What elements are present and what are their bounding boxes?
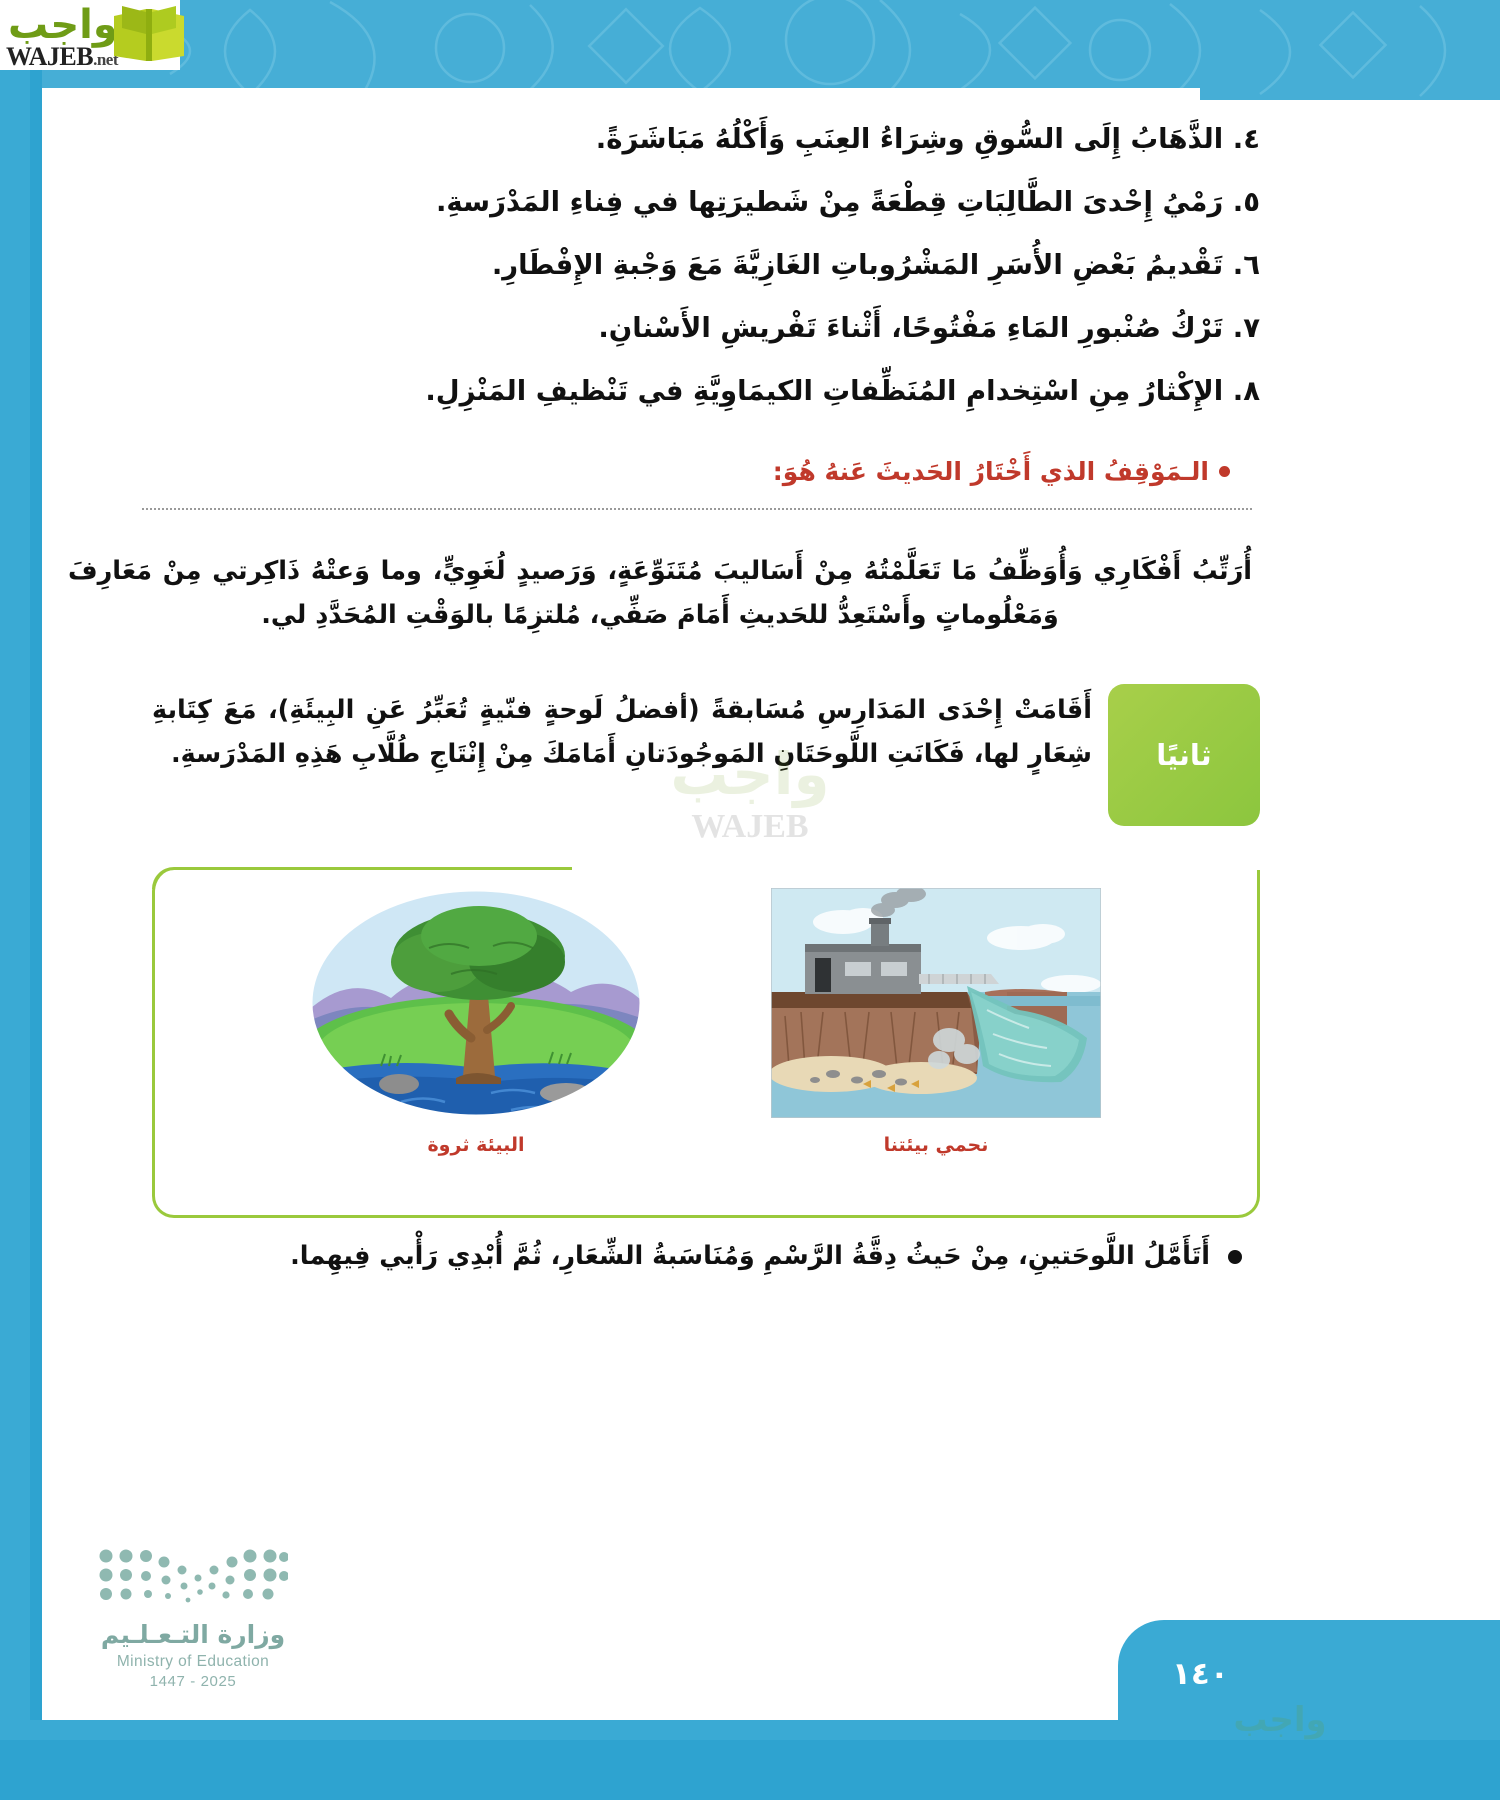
top-banner <box>0 0 1500 100</box>
banner-pattern-icon <box>0 0 1500 100</box>
list-item: ٥. رَمْيُ إِحْدىَ الطَّالِبَاتِ قِطْعَةً… <box>60 183 1260 222</box>
numbered-statement-list: ٤. الذَّهَابُ إِلَى السُّوقِ وشِرَاءُ ال… <box>60 120 1260 411</box>
list-item: ٨. الإِكْثارُ مِنِ اسْتِخدامِ المُنَظِّف… <box>60 372 1260 411</box>
clean-environment-illustration <box>311 888 641 1118</box>
illustration-card-clean[interactable]: البيئة ثروة <box>311 888 641 1156</box>
ministry-year: 2025 - 1447 <box>78 1673 308 1690</box>
page-number: ١٤٠ <box>1172 1656 1229 1692</box>
watermark-bottom-arabic: واجب <box>1180 1700 1380 1740</box>
red-heading-row: الـمَوْقِفُ الذي أَخْتَارُ الحَديثَ عَنه… <box>60 457 1260 486</box>
list-item: ٤. الذَّهَابُ إِلَى السُّوقِ وشِرَاءُ ال… <box>60 120 1260 159</box>
left-edge-strip-inner <box>30 0 42 1800</box>
illustrations-panel: البيئة ثروة <box>152 870 1260 1218</box>
panel-top-border <box>152 867 572 889</box>
bottom-bullet-text: أَتَأَمَّلُ اللَّوحَتينِ، مِنْ حَيثُ دِق… <box>290 1236 1210 1277</box>
red-heading-text: الـمَوْقِفُ الذي أَخْتَارُ الحَديثَ عَنه… <box>773 457 1209 486</box>
open-book-icon <box>110 4 188 66</box>
black-bullet-icon <box>1228 1250 1242 1264</box>
textbook-page: واجب WAJEB.net واجب WAJEB ٤. الذَّهَابُ … <box>0 0 1500 1800</box>
ministry-logo: وزارة التـعـلـيم Ministry of Education 2… <box>78 1548 308 1690</box>
activity-block: ثانيًا أَقَامَتْ إِحْدَى المَدَارِسِ مُس… <box>60 684 1260 860</box>
page-watermark-bottom: واجب <box>1180 1700 1380 1780</box>
illustrations-row: البيئة ثروة <box>155 888 1257 1156</box>
illustration-caption-polluted: نحمي بيئتنا <box>771 1134 1101 1156</box>
answer-dotted-line[interactable] <box>142 508 1252 510</box>
site-logo-english-text: WAJEB <box>6 42 93 71</box>
illustration-card-polluted[interactable]: نحمي بيئتنا <box>771 888 1101 1156</box>
page-content: ٤. الذَّهَابُ إِلَى السُّوقِ وشِرَاءُ ال… <box>60 120 1260 1277</box>
ministry-name-arabic: وزارة التـعـلـيم <box>78 1620 308 1649</box>
list-item: ٦. تَقْديمُ بَعْضِ الأُسَرِ المَشْرُوبات… <box>60 246 1260 285</box>
site-logo-english: WAJEB.net <box>6 42 118 72</box>
ministry-dots-icon <box>98 1548 288 1606</box>
illustration-caption-clean: البيئة ثروة <box>311 1134 641 1156</box>
activity-order-tag: ثانيًا <box>1108 684 1260 826</box>
polluted-environment-illustration <box>771 888 1101 1118</box>
activity-order-label: ثانيًا <box>1156 738 1211 772</box>
site-logo[interactable]: واجب WAJEB.net <box>0 0 180 70</box>
ministry-name-english: Ministry of Education <box>78 1653 308 1671</box>
bottom-bullet-row: أَتَأَمَّلُ اللَّوحَتينِ، مِنْ حَيثُ دِق… <box>60 1236 1260 1277</box>
list-item: ٧. تَرْكُ صُنْبورِ المَاءِ مَفْتُوحًا، أ… <box>60 309 1260 348</box>
intro-paragraph: أُرَتِّبُ أَفْكَارِي وَأُوَظِّفُ مَا تَع… <box>60 550 1260 638</box>
activity-description: أَقَامَتْ إِحْدَى المَدَارِسِ مُسَابقةً … <box>152 688 1092 776</box>
red-bullet-icon <box>1219 466 1230 477</box>
